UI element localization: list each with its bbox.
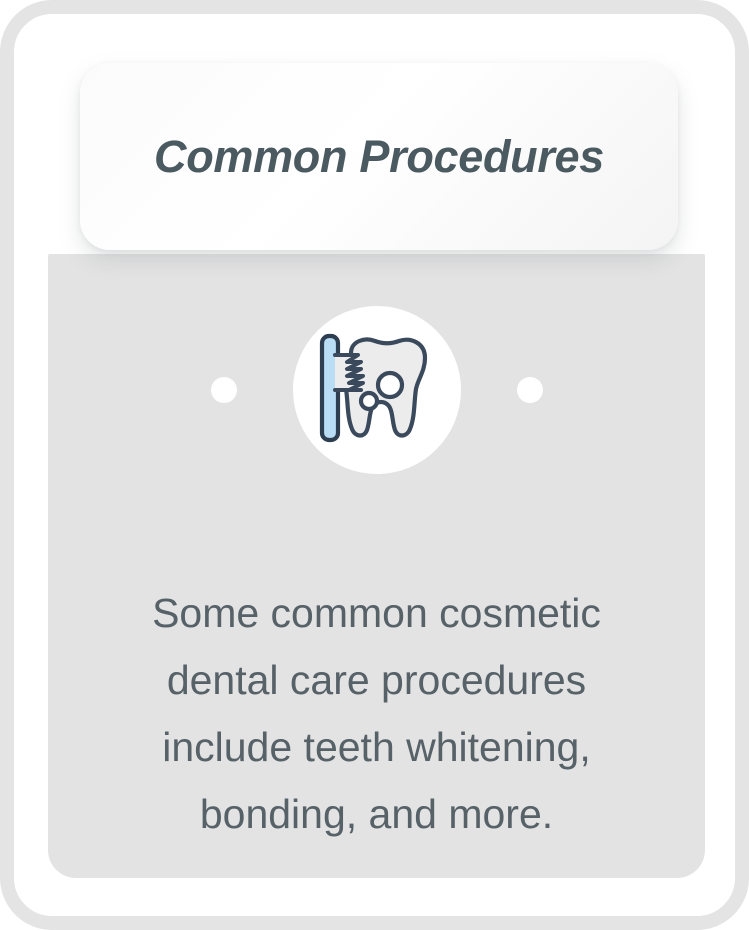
description-line-3: include teeth whitening, bbox=[74, 714, 679, 781]
next-dot-icon[interactable] bbox=[517, 377, 543, 403]
procedure-card-frame: Common Procedures Some common cosmetic bbox=[0, 0, 749, 930]
prev-dot-icon[interactable] bbox=[211, 377, 237, 403]
description-line-4: bonding, and more. bbox=[74, 781, 679, 848]
card-header: Common Procedures bbox=[80, 63, 678, 250]
description-line-1: Some common cosmetic bbox=[74, 580, 679, 647]
card-description: Some common cosmetic dental care procedu… bbox=[74, 580, 679, 848]
description-line-2: dental care procedures bbox=[74, 647, 679, 714]
page-title: Common Procedures bbox=[154, 131, 604, 183]
icon-row bbox=[48, 300, 705, 480]
tooth-with-toothbrush-icon bbox=[317, 331, 437, 449]
icon-badge bbox=[293, 306, 461, 474]
